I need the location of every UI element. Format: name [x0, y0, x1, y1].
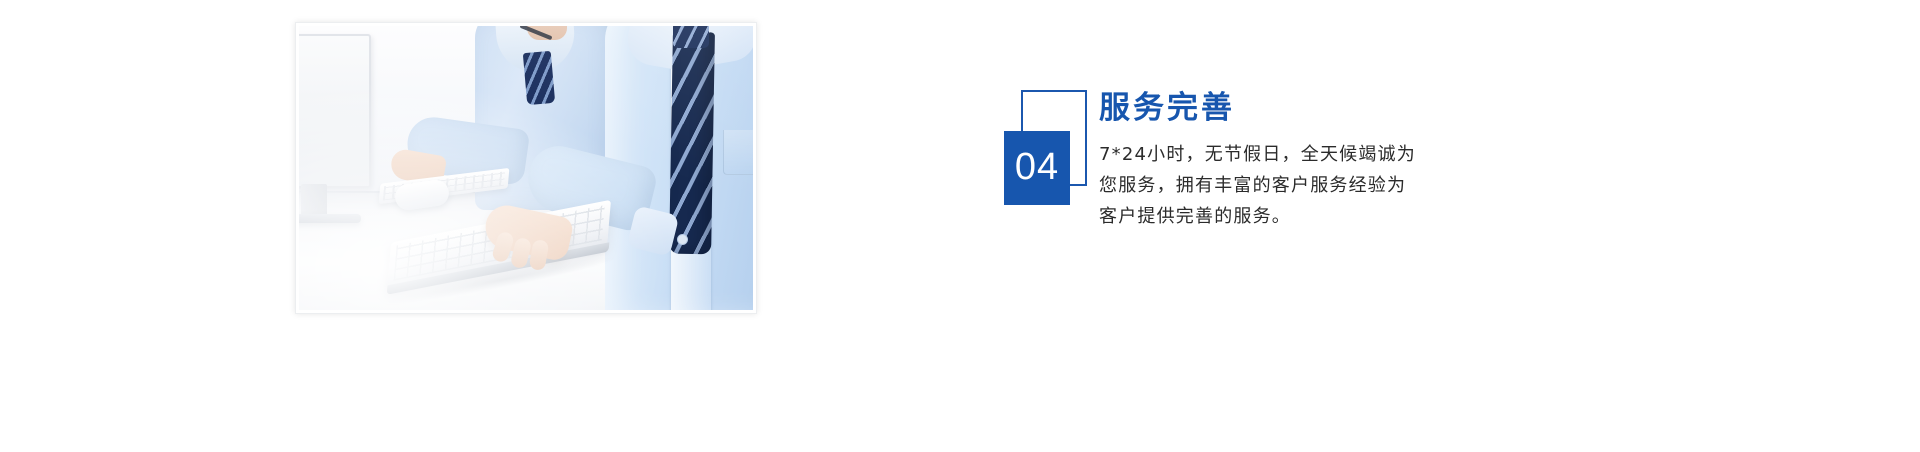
feature-section: 04 服务完善 7*24小时，无节假日，全天候竭诚为 您服务，拥有丰富的客户服务…: [0, 0, 1920, 452]
feature-number-badge: 04: [1003, 90, 1093, 190]
agent-front-shirt-pocket: [723, 130, 753, 175]
badge-number-label: 04: [1015, 148, 1059, 188]
feature-description: 7*24小时，无节假日，全天候竭诚为 您服务，拥有丰富的客户服务经验为 客户提供…: [1099, 139, 1519, 232]
feature-text-column: 服务完善 7*24小时，无节假日，全天候竭诚为 您服务，拥有丰富的客户服务经验为…: [1099, 90, 1519, 232]
monitor-neck: [301, 184, 327, 216]
office-photo-image: [299, 26, 753, 310]
monitor-base: [299, 214, 361, 223]
badge-filled-square: 04: [1004, 131, 1070, 205]
agent-front-cuff-button: [677, 234, 688, 245]
feature-description-line: 7*24小时，无节假日，全天候竭诚为: [1099, 139, 1519, 170]
agent-back-tie: [523, 51, 555, 105]
agent-front-tie-knot: [673, 26, 709, 48]
office-photo: [295, 22, 757, 314]
feature-description-line: 客户提供完善的服务。: [1099, 201, 1519, 232]
feature-title: 服务完善: [1099, 90, 1519, 127]
monitor-icon: [299, 34, 371, 188]
feature-description-line: 您服务，拥有丰富的客户服务经验为: [1099, 170, 1519, 201]
